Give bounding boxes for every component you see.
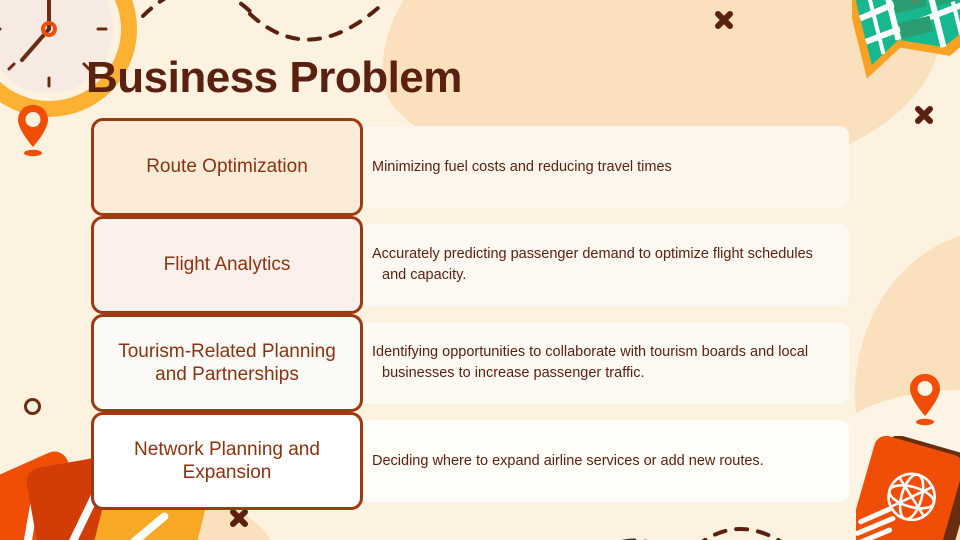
description-text: Minimizing fuel costs and reducing trave… [372, 157, 672, 178]
description-panel-1: Minimizing fuel costs and reducing trave… [357, 126, 849, 208]
x-marker-icon-top [712, 8, 736, 32]
label-box-route-optimization[interactable]: Route Optimization [91, 118, 363, 216]
label-text: Flight Analytics [164, 253, 291, 276]
content-row: Deciding where to expand airline service… [0, 412, 960, 510]
description-panel-4: Deciding where to expand airline service… [357, 420, 849, 502]
label-text: Tourism-Related Planning and Partnership… [106, 340, 348, 386]
folded-map-icon [852, 0, 960, 100]
content-row: Accurately predicting passenger demand t… [0, 216, 960, 314]
content-row: Identifying opportunities to collaborate… [0, 314, 960, 412]
slide-canvas: Business Problem Minimizing fuel costs a… [0, 0, 960, 540]
label-text: Route Optimization [146, 155, 308, 178]
description-text: Identifying opportunities to collaborate… [372, 342, 835, 383]
label-text: Network Planning and Expansion [106, 438, 348, 484]
content-row: Minimizing fuel costs and reducing trave… [0, 118, 960, 216]
label-box-network-planning-and-expansion[interactable]: Network Planning and Expansion [91, 412, 363, 510]
description-panel-2: Accurately predicting passenger demand t… [357, 224, 849, 306]
label-box-flight-analytics[interactable]: Flight Analytics [91, 216, 363, 314]
label-box-tourism-related-planning-and-partnerships[interactable]: Tourism-Related Planning and Partnership… [91, 314, 363, 412]
description-panel-3: Identifying opportunities to collaborate… [357, 322, 849, 404]
content-rows: Minimizing fuel costs and reducing trave… [0, 118, 960, 510]
page-title: Business Problem [86, 56, 462, 100]
description-text: Accurately predicting passenger demand t… [372, 244, 835, 285]
description-text: Deciding where to expand airline service… [372, 451, 764, 472]
